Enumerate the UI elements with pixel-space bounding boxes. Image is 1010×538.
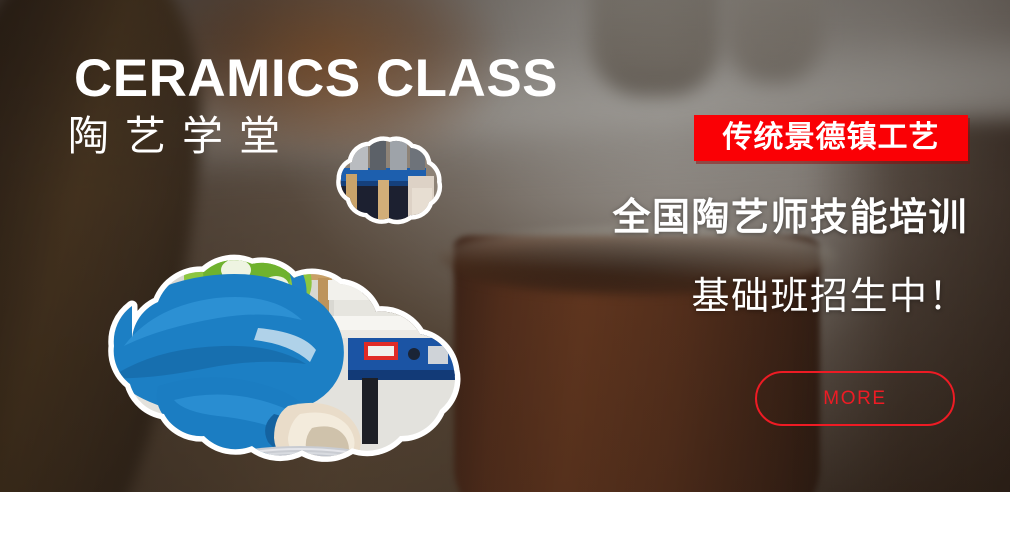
- headline-primary: 全国陶艺师技能培训: [612, 199, 968, 237]
- more-button-label: MORE: [823, 389, 886, 408]
- headline-secondary: 基础班招生中！: [691, 278, 968, 316]
- status-badge-label: 传统景德镇工艺: [723, 123, 940, 153]
- main-cloud-image: [62, 238, 536, 534]
- status-badge: 传统景德镇工艺: [694, 115, 968, 161]
- main-cloud-photo: [62, 238, 536, 516]
- ceramics-class-banner: CERAMICS CLASS 陶艺学堂 传统景德镇工艺 全国陶艺师技能培训 基础…: [0, 0, 1010, 538]
- more-button[interactable]: MORE: [755, 371, 955, 426]
- page-title-english: CERAMICS CLASS: [74, 52, 558, 105]
- small-cloud-photo: [312, 132, 448, 240]
- page-title-chinese: 陶艺学堂: [68, 116, 296, 157]
